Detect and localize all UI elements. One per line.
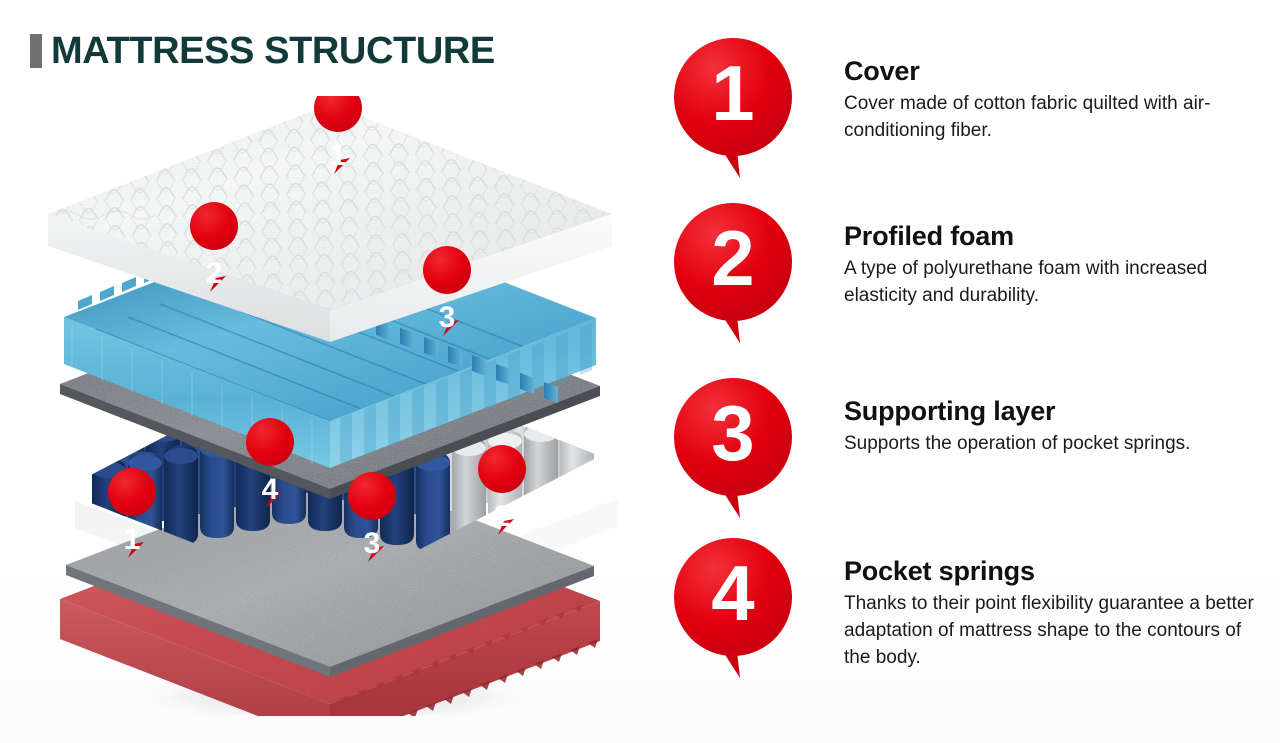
svg-text:2: 2 [494,500,511,533]
legend-pin-3: 3 [674,378,792,528]
legend-text-1: Cover Cover made of cotton fabric quilte… [844,38,1264,145]
legend-pin-2: 2 [674,203,792,353]
legend-text-2: Profiled foam A type of polyurethane foa… [844,203,1264,310]
legend-pin-4: 4 [674,538,792,688]
legend-body-2: A type of polyurethane foam with increas… [844,256,1264,310]
title-accent-bar [30,34,42,68]
legend-text-3: Supporting layer Supports the operation … [844,378,1190,458]
legend-pin-number-3: 3 [711,389,754,477]
svg-text:4: 4 [262,473,279,506]
mattress-illustration: 1 2 3 4 3 2 [0,96,660,716]
svg-text:1: 1 [124,523,141,556]
legend-body-3: Supports the operation of pocket springs… [844,431,1190,458]
legend-list: 1 Cover Cover made of cotton fabric quil… [662,38,1280,708]
svg-text:3: 3 [439,301,456,334]
svg-text:2: 2 [206,257,223,290]
svg-text:1: 1 [330,139,347,172]
legend-item-pocket-springs[interactable]: 4 Pocket springs Thanks to their point f… [662,538,1280,688]
legend-item-profiled-foam[interactable]: 2 Profiled foam A type of polyurethane f… [662,203,1280,353]
legend-body-4: Thanks to their point flexibility guaran… [844,591,1264,672]
legend-pin-number-2: 2 [711,214,754,302]
legend-heading-1: Cover [844,56,1264,86]
legend-heading-2: Profiled foam [844,221,1264,251]
legend-item-cover[interactable]: 1 Cover Cover made of cotton fabric quil… [662,38,1280,188]
page-title: MATTRESS STRUCTURE [30,28,495,74]
legend-text-4: Pocket springs Thanks to their point fle… [844,538,1264,672]
svg-text:3: 3 [364,527,381,560]
legend-pin-number-1: 1 [711,49,754,137]
legend-pin-1: 1 [674,38,792,188]
page-title-text: MATTRESS STRUCTURE [51,32,495,70]
legend-heading-4: Pocket springs [844,556,1264,586]
legend-item-supporting-layer[interactable]: 3 Supporting layer Supports the operatio… [662,378,1280,528]
legend-pin-number-4: 4 [711,549,754,637]
legend-heading-3: Supporting layer [844,396,1190,426]
legend-body-1: Cover made of cotton fabric quilted with… [844,91,1264,145]
